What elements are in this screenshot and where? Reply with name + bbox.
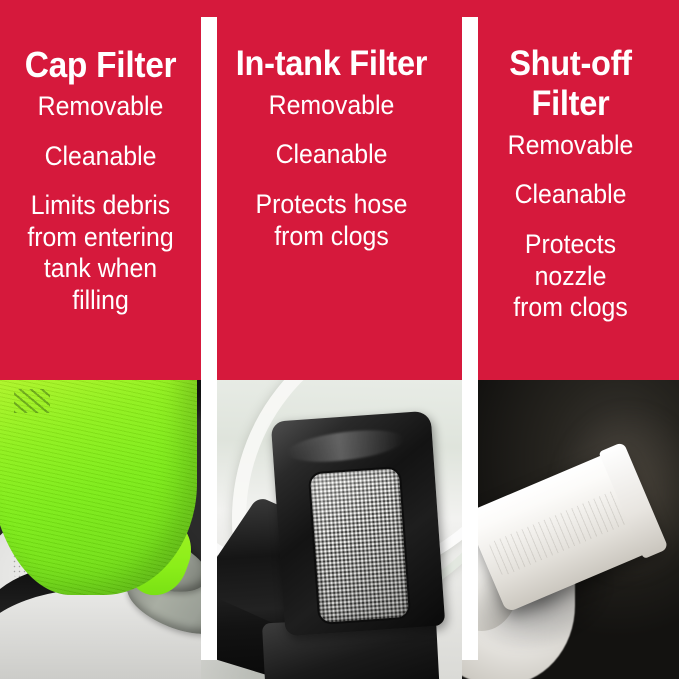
- metal-mesh-screen: [310, 468, 409, 622]
- shut-off-filter-text-block: Shut-off Filter Removable Cleanable Prot…: [462, 0, 679, 380]
- in-tank-filter-text-block: In-tank Filter Removable Cleanable Prote…: [201, 0, 462, 380]
- glove-logo-mark: [14, 389, 50, 413]
- cap-filter-title: Cap Filter: [13, 44, 189, 85]
- in-tank-filter-body: [217, 416, 452, 679]
- column-shut-off-filter: Shut-off Filter Removable Cleanable Prot…: [462, 0, 679, 679]
- column-cap-filter: Cap Filter Removable Cleanable Limits de…: [0, 0, 201, 679]
- shut-off-filter-title: Shut-off Filter: [475, 44, 666, 124]
- cap-filter-feature-removable: Removable: [14, 91, 188, 123]
- cap-filter-photo: [0, 380, 201, 679]
- shut-off-filter-feature-removable: Removable: [476, 130, 665, 162]
- cap-filter-feature-cleanable: Cleanable: [14, 141, 188, 173]
- filter-columns: Cap Filter Removable Cleanable Limits de…: [0, 0, 679, 679]
- column-divider-2: [462, 17, 478, 660]
- cap-filter-feature-limits-debris: Limits debris from entering tank when fi…: [14, 190, 188, 316]
- in-tank-filter-feature-protects-hose: Protects hose from clogs: [217, 189, 446, 252]
- cap-filter-text-block: Cap Filter Removable Cleanable Limits de…: [0, 0, 201, 380]
- in-tank-filter-title: In-tank Filter: [216, 44, 448, 84]
- column-divider-1: [201, 17, 217, 660]
- column-in-tank-filter: In-tank Filter Removable Cleanable Prote…: [201, 0, 462, 679]
- mesh-sheen: [310, 468, 409, 622]
- shut-off-filter-feature-protects-nozzle: Protects nozzle from clogs: [476, 229, 665, 324]
- in-tank-filter-feature-removable: Removable: [217, 90, 446, 122]
- shut-off-filter-photo: [462, 380, 679, 679]
- in-tank-filter-photo: 2: [201, 380, 462, 679]
- filter-comparison-infographic: Cap Filter Removable Cleanable Limits de…: [0, 0, 679, 679]
- in-tank-filter-feature-cleanable: Cleanable: [217, 139, 446, 171]
- shut-off-filter-feature-cleanable: Cleanable: [476, 179, 665, 211]
- cartridge-ridge-texture: [489, 486, 637, 577]
